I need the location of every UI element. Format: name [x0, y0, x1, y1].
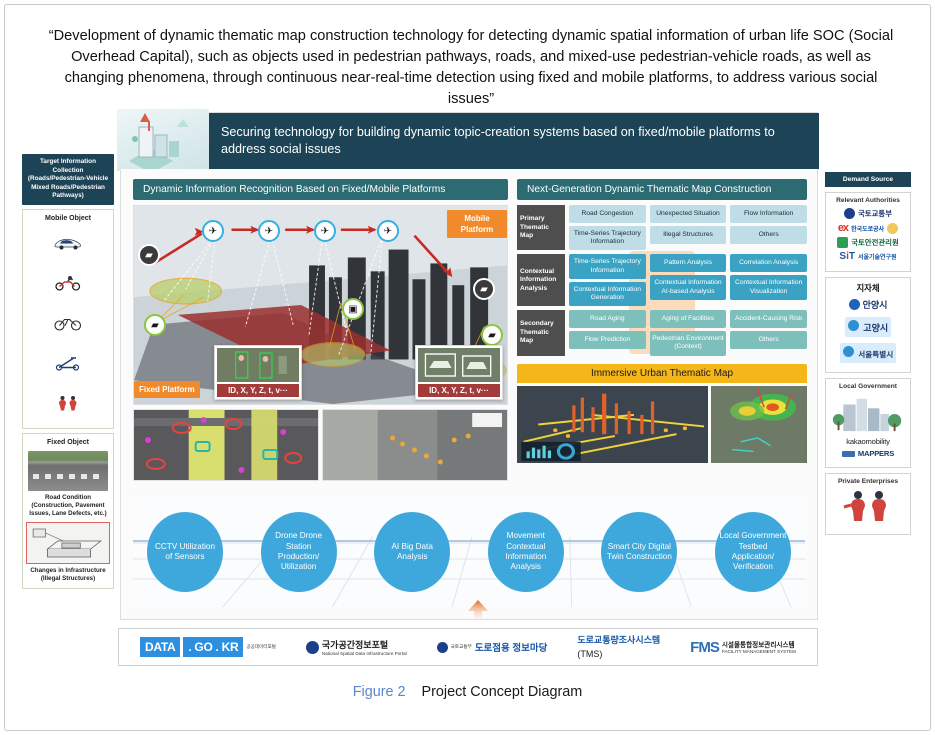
nsdi-portal-logo: 국가공간정보포털 National Spatial Data Infrastru…: [306, 638, 407, 656]
demand-source-header: Demand Source: [825, 172, 911, 187]
data-go-kr-main: DATA: [140, 637, 180, 657]
tms-main: 도로교통량조사시스템: [577, 635, 660, 646]
row-label-contextual: Contextual Information Analysis: [517, 254, 565, 306]
kakaomobility-logo-label: kakaomobility: [846, 437, 889, 446]
immersive-map-images: [517, 383, 807, 463]
cell-item[interactable]: Time-Series Trajectory Information: [569, 254, 646, 278]
molit-logo: 국토교통부: [830, 208, 906, 219]
cell-item[interactable]: Aging of Facilities: [650, 310, 727, 328]
goyang-mark-icon: [848, 320, 859, 331]
thematic-row: Secondary Thematic Map Road Aging Flow P…: [517, 310, 807, 355]
local-government-group: Local Government kakaomobility MAPPERS: [825, 378, 911, 468]
molit-mark-icon: [844, 208, 855, 219]
pedestrians-icon: [26, 383, 110, 423]
molit-logo-label: 국토교통부: [858, 208, 892, 219]
people-icon: [830, 489, 906, 528]
left-section: Dynamic Information Recognition Based on…: [133, 179, 508, 481]
cell-item[interactable]: Unexpected Situation: [650, 205, 727, 223]
outcome-circle[interactable]: AI Big Data Analysis: [374, 512, 450, 592]
up-arrow-icon: [467, 600, 489, 629]
private-enterprises-caption: Private Enterprises: [830, 478, 906, 485]
ex-mark-icon: ex: [838, 222, 848, 234]
car-icon: [26, 223, 110, 263]
cell-item[interactable]: Pedestrian Environment (Context): [650, 331, 727, 355]
seoul-logo-label: 서울특별시: [858, 350, 893, 359]
tms-logo: 도로교통량조사시스템 (TMS): [577, 635, 660, 659]
nsdi-sub: National Spatial Data Infrastructure Por…: [322, 651, 407, 656]
fixed-object-group: Fixed Object Road Condition (Constructio…: [22, 433, 114, 589]
cell-item[interactable]: Road Aging: [569, 310, 646, 328]
kakaomobility-logo: kakaomobility: [830, 437, 906, 446]
bicycle-icon: [26, 303, 110, 343]
city-skyline-icon: [117, 109, 209, 171]
banner-title: Securing technology for building dynamic…: [221, 124, 805, 158]
road-occupancy-kr: 국토교통부: [451, 644, 472, 649]
cell-item[interactable]: Others: [730, 331, 807, 349]
scene-illustration: Mobile Platform Fixed Platform ✈ ✈ ✈ ✈ ▰…: [133, 205, 508, 405]
sit-logo-label: 서울기술연구원: [858, 252, 897, 261]
right-section: Next-Generation Dynamic Thematic Map Con…: [517, 179, 807, 463]
cell-item[interactable]: Time-Series Trajectory Information: [569, 226, 646, 250]
row-label-secondary: Secondary Thematic Map: [517, 310, 565, 355]
cell-column: Road Congestion Time-Series Trajectory I…: [569, 205, 646, 250]
road-condition-label: Road Condition (Construction, Pavement I…: [26, 494, 110, 518]
mappers-mark-icon: [842, 451, 855, 457]
cell-column: Pattern Analysis Contextual Information …: [650, 254, 727, 306]
cell-column: Correlation Analysis Contextual Informat…: [730, 254, 807, 306]
right-section-header: Next-Generation Dynamic Thematic Map Con…: [517, 179, 807, 200]
outcome-circle[interactable]: CCTV Utilization of Sensors: [147, 512, 223, 592]
row-label-primary: Primary Thematic Map: [517, 205, 565, 250]
immersive-map-block: Immersive Urban Thematic Map: [517, 364, 807, 463]
cell-item[interactable]: Flow Information: [730, 205, 807, 223]
nsdi-main: 국가공간정보포털: [322, 638, 407, 651]
aerial-traffic-photo: [322, 409, 508, 481]
data-go-kr-sub: . GO . KR: [183, 637, 243, 657]
outcome-circle[interactable]: Movement Contextual Information Analysis: [488, 512, 564, 592]
local-cities-caption: 지자체: [830, 282, 906, 294]
right-sidebar: Demand Source Relevant Authorities 국토교통부…: [825, 172, 911, 535]
cell-item[interactable]: Illegal Structures: [650, 226, 727, 244]
outcome-circle[interactable]: Drone Drone Station Production/ Utilizat…: [261, 512, 337, 592]
cell-column: Accident-Causing Risk Others: [730, 310, 807, 355]
road-occupancy-main: 도로점용 정보마당: [475, 640, 548, 654]
id-card-pedestrian: ID, X, Y, Z, t, v···: [214, 345, 302, 400]
id-card-label: ID, X, Y, Z, t, v···: [217, 384, 299, 397]
satellite-heatmap: [711, 386, 807, 463]
kalis-logo: 국토안전관리원: [830, 237, 906, 248]
left-section-header: Dynamic Information Recognition Based on…: [133, 179, 508, 200]
motorcycle-icon: [26, 263, 110, 303]
infrastructure-change-label: Changes in Infrastructure (Illegal Struc…: [26, 567, 110, 583]
cctv-node-icon: ▰: [138, 244, 160, 266]
fms-sub: FACILITY MANAGEMENT SYSTEM: [722, 649, 796, 654]
anyang-logo: 안양시: [830, 298, 906, 311]
fms-logo: FMS 시설물통합정보관리시스템 FACILITY MANAGEMENT SYS…: [690, 639, 796, 656]
thematic-row: Primary Thematic Map Road Congestion Tim…: [517, 205, 807, 250]
thematic-grid: Primary Thematic Map Road Congestion Tim…: [517, 205, 807, 356]
cell-item[interactable]: Flow Prediction: [569, 331, 646, 349]
cell-item[interactable]: Accident-Causing Risk: [730, 310, 807, 328]
cell-item[interactable]: Correlation Analysis: [730, 254, 807, 272]
kick-scooter-icon: [26, 343, 110, 383]
panel-body: Dynamic Information Recognition Based on…: [121, 169, 817, 619]
drone-node-icon: ✈: [314, 220, 336, 242]
ex-logo-label: 한국도로공사: [851, 224, 884, 233]
outcomes-band: CCTV Utilization of Sensors Drone Drone …: [133, 497, 805, 607]
immersive-map-header: Immersive Urban Thematic Map: [517, 364, 807, 383]
id-card-vehicle: ID, X, Y, Z, t, v···: [415, 345, 503, 400]
road-occupancy-logo: 국토교통부 도로점용 정보마당: [437, 640, 548, 654]
cell-item[interactable]: Contextual Information Generation: [569, 282, 646, 306]
cell-item[interactable]: Road Congestion: [569, 205, 646, 223]
cell-item[interactable]: Contextual Information AI-based Analysis: [650, 275, 727, 299]
page-title: “Development of dynamic thematic map con…: [46, 26, 896, 110]
left-sidebar: Target Information Collection (Roads/Ped…: [22, 154, 114, 589]
goyang-logo-label: 고양시: [863, 323, 888, 333]
seoul-logo: 서울특별시: [840, 343, 896, 363]
mobile-object-group: Mobile Object: [22, 209, 114, 429]
logo-bar: DATA . GO . KR 공공데이터포털 국가공간정보포털 National…: [118, 628, 818, 666]
drone-node-icon: ✈: [377, 220, 399, 242]
vehicle-detection-image: [418, 348, 500, 382]
chip-node-icon: ▣: [342, 298, 364, 320]
cell-column: Unexpected Situation Illegal Structures: [650, 205, 727, 250]
ex-mascot-icon: [887, 223, 898, 234]
ex-logo: ex 한국도로공사: [830, 222, 906, 234]
molit-mark-icon: [437, 642, 448, 653]
private-enterprises-group: Private Enterprises: [825, 473, 911, 535]
intersection-detection-photo: [133, 409, 319, 481]
cell-item[interactable]: Pattern Analysis: [650, 254, 727, 272]
fms-kr: 시설물통합정보관리시스템: [722, 639, 796, 649]
photo-strip: [133, 409, 508, 481]
left-sidebar-header: Target Information Collection (Roads/Ped…: [22, 154, 114, 205]
cell-item[interactable]: Others: [730, 226, 807, 244]
kalis-logo-label: 국토안전관리원: [851, 237, 899, 248]
figure-title: Project Concept Diagram: [422, 684, 583, 700]
cell-column: Time-Series Trajectory Information Conte…: [569, 254, 646, 306]
anyang-mark-icon: [849, 299, 860, 310]
cell-column: Flow Information Others: [730, 205, 807, 250]
mobile-platform-badge: Mobile Platform: [447, 210, 507, 238]
fms-main: FMS: [690, 639, 719, 656]
cell-column: Road Aging Flow Prediction: [569, 310, 646, 355]
data-go-kr-logo: DATA . GO . KR 공공데이터포털: [140, 637, 276, 657]
mappers-logo: MAPPERS: [830, 449, 906, 458]
local-cities-group: 지자체 안양시 고양시 서울특별시: [825, 277, 911, 373]
3d-city-heat-columns: [517, 386, 708, 463]
mappers-logo-label: MAPPERS: [858, 449, 894, 458]
id-card-label: ID, X, Y, Z, t, v···: [418, 384, 500, 397]
outcome-circles: CCTV Utilization of Sensors Drone Drone …: [133, 497, 805, 607]
mobile-object-caption: Mobile Object: [26, 214, 110, 223]
city-buildings-icon: [830, 394, 906, 434]
drone-node-icon: ✈: [258, 220, 280, 242]
main-diagram-panel: Securing technology for building dynamic…: [120, 112, 818, 620]
thematic-row: Contextual Information Analysis Time-Ser…: [517, 254, 807, 306]
drone-node-icon: ✈: [202, 220, 224, 242]
cctv-node-icon: ▰: [473, 278, 495, 300]
outcome-circle[interactable]: Smart City Digital Twin Construction: [601, 512, 677, 592]
figure-caption: Figure 2 Project Concept Diagram: [0, 684, 935, 700]
road-photo: [28, 451, 108, 491]
pedestrian-detection-image: [217, 348, 299, 382]
figure-number: Figure 2: [353, 684, 406, 700]
molit-mark-icon: [306, 641, 319, 654]
kalis-mark-icon: [837, 237, 848, 248]
cctv-node-icon: ▰: [481, 324, 503, 346]
relevant-authorities-group: Relevant Authorities 국토교통부 ex 한국도로공사 국토안…: [825, 192, 911, 272]
relevant-authorities-caption: Relevant Authorities: [830, 197, 906, 204]
seoul-mark-icon: [843, 346, 854, 357]
cell-column: Aging of Facilities Pedestrian Environme…: [650, 310, 727, 355]
fixed-object-caption: Fixed Object: [26, 438, 110, 447]
banner: Securing technology for building dynamic…: [121, 113, 819, 169]
sit-logo: SiT 서울기술연구원: [830, 251, 906, 262]
tms-sub: (TMS): [577, 649, 602, 659]
outcome-circle[interactable]: Local Government Testbed Application/ Ve…: [715, 512, 791, 592]
data-go-kr-kr: 공공데이터포털: [246, 644, 276, 649]
goyang-logo: 고양시: [845, 317, 891, 337]
fixed-platform-badge: Fixed Platform: [134, 381, 200, 398]
local-government-caption: Local Government: [830, 383, 906, 390]
sit-mark-icon: SiT: [839, 251, 855, 262]
illegal-structure-photo: [26, 522, 110, 564]
anyang-logo-label: 안양시: [863, 298, 888, 311]
cell-item[interactable]: Contextual Information Visualization: [730, 275, 807, 299]
cctv-node-icon: ▰: [144, 314, 166, 336]
